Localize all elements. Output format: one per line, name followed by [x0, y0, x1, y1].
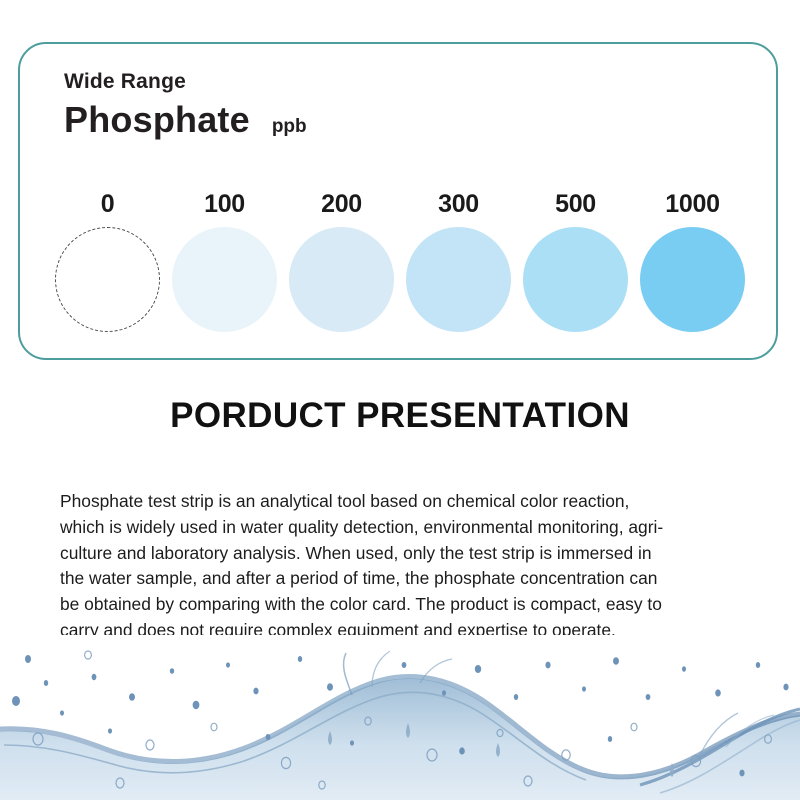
- swatch-dot: [640, 227, 745, 332]
- swatch-label: 100: [204, 192, 245, 217]
- swatch-item: 100: [171, 192, 278, 332]
- analyte-name: Phosphate: [64, 101, 250, 139]
- swatch-label: 200: [321, 192, 362, 217]
- color-chart-card: Wide Range Phosphate ppb 0 100 200 300: [18, 42, 778, 360]
- swatch-item: 1000: [639, 192, 746, 332]
- swatch-label: 300: [438, 192, 479, 217]
- product-listing-page: Wide Range Phosphate ppb 0 100 200 300: [0, 0, 800, 800]
- description-line: which is widely used in water quality de…: [60, 515, 720, 541]
- card-heading: Wide Range Phosphate ppb: [64, 70, 307, 139]
- swatch-scale: 0 100 200 300 500 1000: [54, 192, 746, 332]
- swatch-dot: [523, 227, 628, 332]
- description-line: Phosphate test strip is an analytical to…: [60, 489, 720, 515]
- swatch-label: 1000: [665, 192, 719, 217]
- swatch-dot: [406, 227, 511, 332]
- swatch-item: 300: [405, 192, 512, 332]
- swatch-label: 0: [101, 192, 115, 217]
- swatch-item: 500: [522, 192, 629, 332]
- description-line: the water sample, and after a period of …: [60, 566, 720, 592]
- analyte-row: Phosphate ppb: [64, 101, 307, 139]
- description-line: be obtained by comparing with the color …: [60, 592, 720, 618]
- swatch-item: 0: [54, 192, 161, 332]
- swatch-label: 500: [555, 192, 596, 217]
- section-title: PORDUCT PRESENTATION: [0, 396, 800, 436]
- water-splash-photo: [0, 635, 800, 800]
- swatch-dot: [55, 227, 160, 332]
- analyte-unit: ppb: [272, 117, 307, 136]
- swatch-dot: [172, 227, 277, 332]
- swatch-dot: [289, 227, 394, 332]
- product-description: Phosphate test strip is an analytical to…: [60, 489, 720, 644]
- description-line: culture and laboratory analysis. When us…: [60, 541, 720, 567]
- range-label: Wide Range: [64, 70, 307, 93]
- swatch-item: 200: [288, 192, 395, 332]
